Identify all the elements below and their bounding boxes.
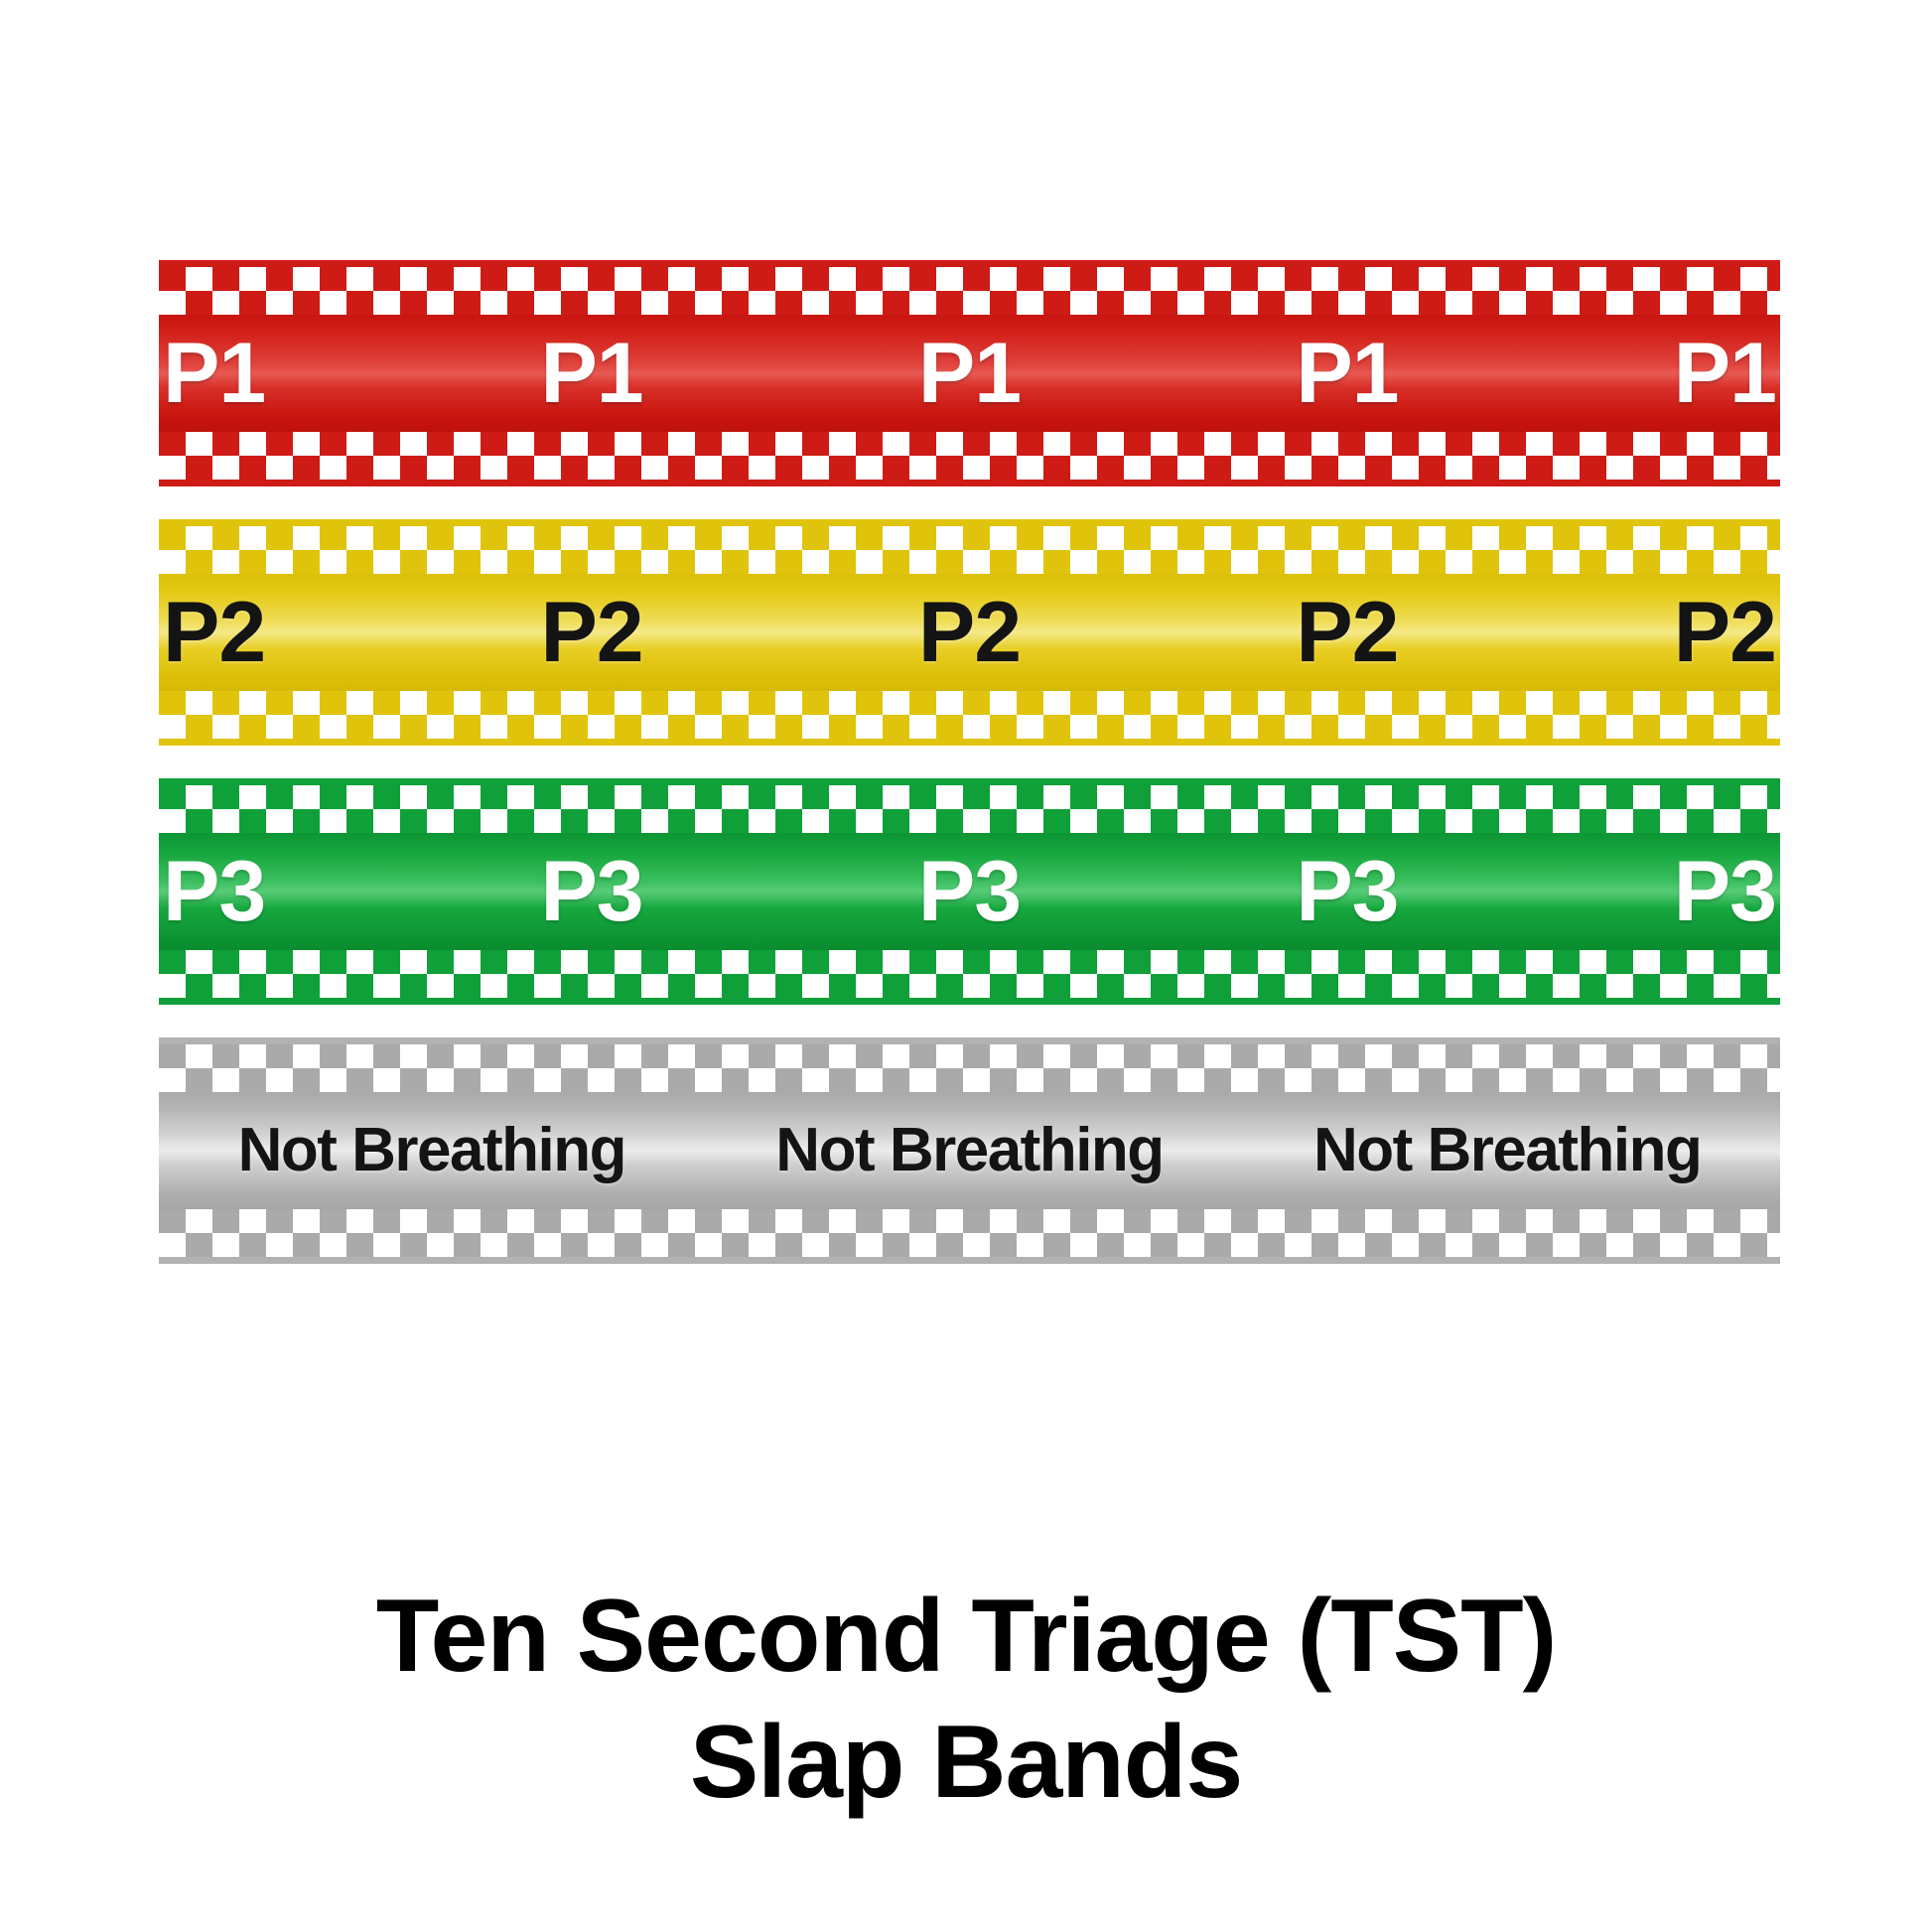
band-top-rail [159,260,1780,267]
checker-strip-bottom [159,432,1780,480]
band-label: P2 [918,590,1021,675]
band-label: P3 [540,849,642,934]
checker-strip-bottom [159,950,1780,998]
band-body: Not Breathing Not Breathing Not Breathin… [159,1092,1780,1209]
slap-band-not-breathing: Not Breathing Not Breathing Not Breathin… [159,1037,1780,1264]
band-body: P3 P3 P3 P3 P3 [159,833,1780,950]
band-label: P2 [1674,590,1776,675]
band-label: Not Breathing [775,1120,1163,1181]
title-line-2: Slap Bands [0,1700,1932,1826]
band-label: P3 [1296,849,1398,934]
band-label: P1 [1674,331,1776,416]
checker-strip-top [159,526,1780,574]
band-label: Not Breathing [238,1120,625,1181]
band-top-rail [159,778,1780,785]
band-label: P1 [540,331,642,416]
band-bottom-rail [159,1257,1780,1264]
band-label: Not Breathing [1313,1120,1701,1181]
band-top-rail [159,1037,1780,1044]
band-label: P1 [1296,331,1398,416]
slap-band-p2: P2 P2 P2 P2 P2 [159,519,1780,746]
band-label: P2 [163,590,265,675]
band-label-row: P2 P2 P2 P2 P2 [159,574,1780,691]
checker-strip-bottom [159,691,1780,739]
slap-band-p1: P1 P1 P1 P1 P1 [159,260,1780,486]
band-label-row: P3 P3 P3 P3 P3 [159,833,1780,950]
band-label: P1 [918,331,1021,416]
title-line-1: Ten Second Triage (TST) [0,1574,1932,1700]
band-bottom-rail [159,998,1780,1005]
band-label: P3 [1674,849,1776,934]
band-label: P2 [540,590,642,675]
band-top-rail [159,519,1780,526]
band-label-row: Not Breathing Not Breathing Not Breathin… [159,1092,1780,1209]
checker-strip-top [159,267,1780,315]
slap-band-p3: P3 P3 P3 P3 P3 [159,778,1780,1005]
slap-band-stack: P1 P1 P1 P1 P1 P2 P2 P2 P2 P2 [159,260,1780,1297]
tst-slap-bands-poster: P1 P1 P1 P1 P1 P2 P2 P2 P2 P2 [0,0,1932,1932]
band-label: P3 [163,849,265,934]
band-bottom-rail [159,739,1780,746]
band-label: P2 [1296,590,1398,675]
band-label: P3 [918,849,1021,934]
checker-strip-bottom [159,1209,1780,1257]
band-label: P1 [163,331,265,416]
checker-strip-top [159,1044,1780,1092]
band-label-row: P1 P1 P1 P1 P1 [159,315,1780,432]
band-body: P2 P2 P2 P2 P2 [159,574,1780,691]
band-bottom-rail [159,480,1780,486]
band-body: P1 P1 P1 P1 P1 [159,315,1780,432]
poster-title: Ten Second Triage (TST) Slap Bands [0,1574,1932,1826]
checker-strip-top [159,785,1780,833]
